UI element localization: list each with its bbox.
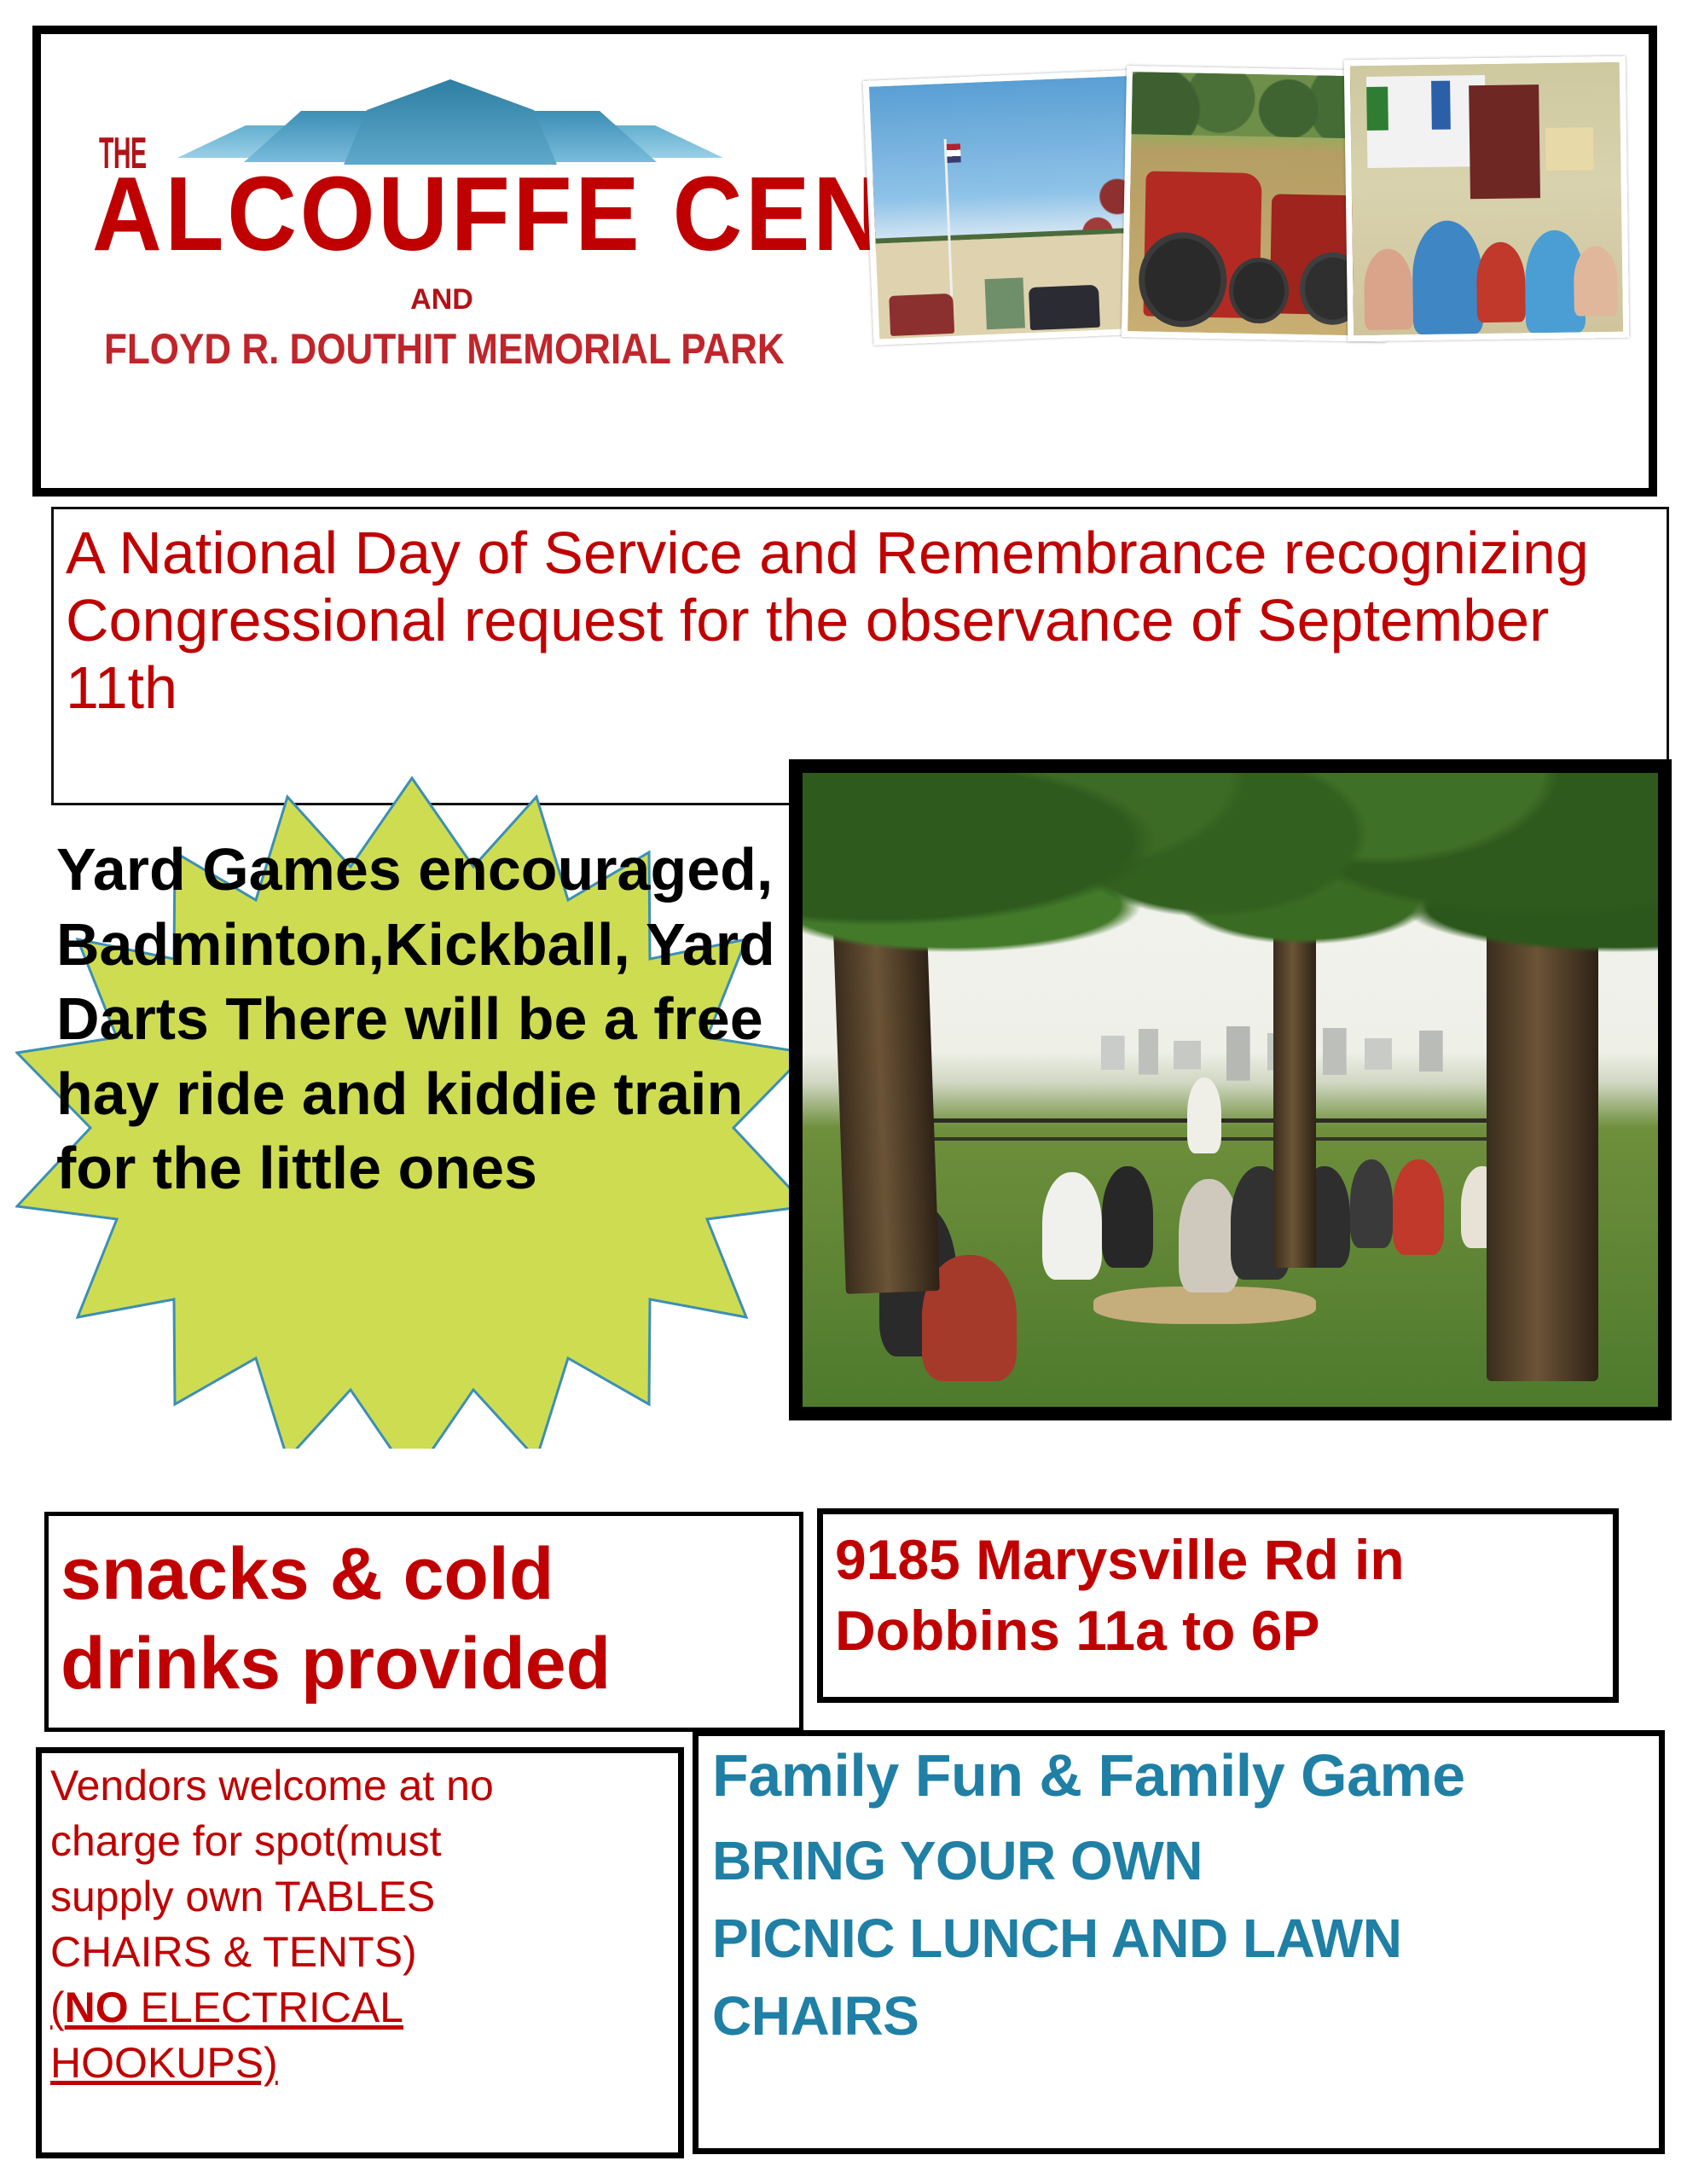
- park-picnic-photo: [789, 759, 1672, 1420]
- snacks-callout: snacks & cold drinks provided: [44, 1512, 803, 1732]
- logo-and-text: AND: [58, 283, 826, 317]
- family-fun-headline: Family Fun & Family Game: [712, 1745, 1659, 1807]
- family-fun-callout: Family Fun & Family Game BRING YOUR OWN …: [693, 1730, 1665, 2154]
- header-banner: THE ALCOUFFE CENTER AND FLOYD R. DOUTHIT…: [32, 26, 1657, 497]
- address-and-hours-text: 9185 Marysville Rd in Dobbins 11a to 6P: [835, 1525, 1613, 1665]
- vendors-callout: Vendors welcome at no charge for spot(mu…: [36, 1747, 684, 2158]
- snacks-text: snacks & cold drinks provided: [61, 1530, 799, 1709]
- event-crowd-photo: [1344, 56, 1630, 342]
- hookups-word: HOOKUPS): [50, 2036, 673, 2091]
- vendors-line-1: Vendors welcome at no: [50, 1758, 673, 1814]
- logo-park-name: FLOYD R. DOUTHIT MEMORIAL PARK: [104, 324, 780, 374]
- community-center-building-photo: [863, 69, 1156, 346]
- address-callout: 9185 Marysville Rd in Dobbins 11a to 6P: [817, 1508, 1619, 1703]
- logo-center-name: ALCOUFFE CENTER: [92, 162, 783, 267]
- no-emphasis: NO: [65, 1984, 129, 2031]
- vendors-line-4: CHAIRS & TENTS): [50, 1925, 673, 1980]
- vendors-line-2: charge for spot(must: [50, 1814, 673, 1869]
- header-photo-strip: [868, 49, 1636, 476]
- vendors-line-3: supply own TABLES: [50, 1869, 673, 1925]
- yard-games-starburst: Yard Games encouraged, Badminton,Kickbal…: [15, 766, 809, 1449]
- no-electrical-hookups-line: (NO ELECTRICAL: [50, 1980, 673, 2036]
- alcouffe-center-logo: THE ALCOUFFE CENTER AND FLOYD R. DOUTHIT…: [58, 43, 868, 473]
- vendors-info-text: Vendors welcome at no charge for spot(mu…: [50, 1758, 673, 2091]
- pentagon-wings-logo-icon: [152, 73, 749, 166]
- electrical-word: ELECTRICAL: [129, 1984, 403, 2031]
- yard-games-text: Yard Games encouraged, Badminton,Kickbal…: [56, 833, 790, 1206]
- family-fun-body: BRING YOUR OWN PICNIC LUNCH AND LAWN CHA…: [712, 1822, 1659, 2055]
- open-paren: (: [50, 1984, 65, 2031]
- national-day-text: A National Day of Service and Remembranc…: [66, 520, 1658, 722]
